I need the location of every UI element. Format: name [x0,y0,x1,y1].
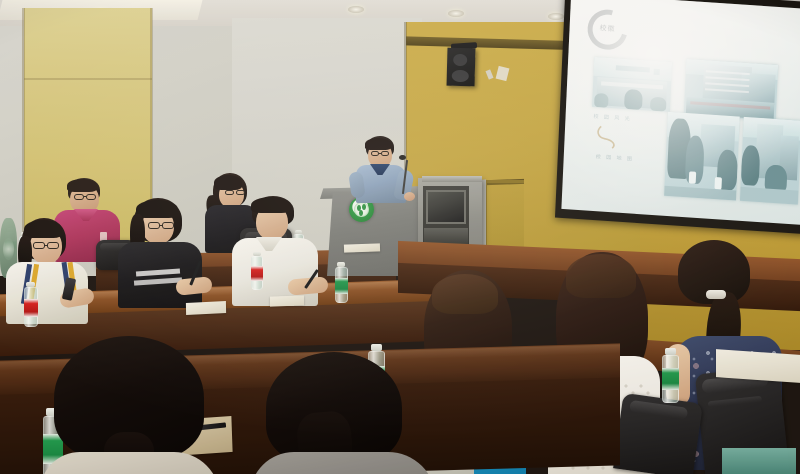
conference-room-photo: 校徽 [0,0,800,474]
rack-monitor [426,190,466,224]
woman-black-tee-glasses [148,222,160,229]
foreground-person-right [254,352,444,474]
downlight-icon [548,13,564,20]
chair-seat-cushion [722,448,796,474]
woman-white-top-glasses [33,242,45,249]
notepad-1 [344,243,380,252]
notepad-4 [270,295,304,306]
notepad-2 [186,301,226,315]
presenter-glasses [371,151,379,156]
microphone-head-icon [399,155,406,160]
foreground-right-shoulder [250,452,436,474]
audience-man-white-shirt [232,196,328,308]
rack-top-unit [422,176,482,182]
man-red-polo-glasses [74,194,84,200]
projection-screen: 校徽 [555,0,800,234]
foreground-left-shoulder [40,452,220,474]
document-right [716,349,800,383]
audience-woman-white-top [4,218,104,328]
hair-tie [706,290,726,299]
pier-seam [24,78,152,80]
woman-black-tee-shirt [118,242,202,308]
screen-glare [561,0,800,225]
presenter [352,136,424,200]
podium-emblem-inner [354,202,369,217]
foreground-person-left [46,336,246,474]
presenter-hand [404,192,415,201]
downlight-icon [448,10,464,17]
chair-right-near[interactable] [613,393,703,474]
audience-woman-black-tee [118,198,218,310]
downlight-icon [348,6,364,13]
projection-screen-surface: 校徽 [561,0,800,225]
wall-speaker [447,48,476,87]
woman-back-black-glasses [225,190,234,195]
